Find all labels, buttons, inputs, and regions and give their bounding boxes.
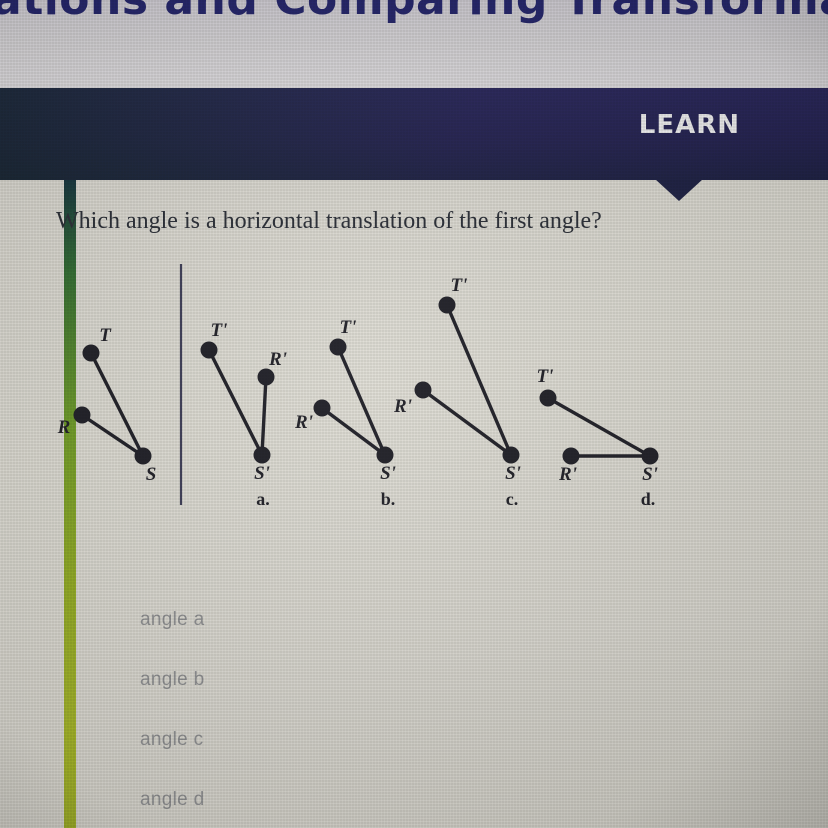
option-d-angle-vertex-rprime-point (563, 448, 580, 465)
option-c-letter-label: c. (506, 489, 519, 509)
original-angle-vertex-r-label: R (57, 417, 71, 438)
option-a-angle-vertex-tprime-point (201, 342, 218, 359)
option-a-angle-segment-rs (262, 377, 266, 455)
original-angle-vertex-s-point (135, 448, 152, 465)
option-a-angle-segment-ts (209, 350, 262, 455)
option-b-angle-vertex-rprime-label: R' (294, 412, 313, 433)
original-angle-vertex-t-label: T (99, 325, 112, 346)
option-d-angle-vertex-tprime-point (540, 390, 557, 407)
option-d-angle-vertex-sprime-point (642, 448, 659, 465)
option-c-angle-vertex-tprime-point (439, 297, 456, 314)
option-c-angle-vertex-sprime-label: S' (505, 463, 521, 484)
angle-figure: TRST'R'S'a.T'R'S'b.T'R'S'c.T'R'S'd. (0, 250, 828, 530)
option-c-angle-vertex-tprime-label: T' (451, 275, 468, 296)
original-angle-vertex-t-point (83, 345, 100, 362)
screenshot-root: ations and Comparing Transforma LEARN Wh… (0, 0, 828, 828)
option-a-angle-vertex-rprime-label: R' (268, 349, 287, 370)
answer-option-d-label: angle d (140, 789, 204, 811)
answer-option-c[interactable]: angle c (140, 710, 204, 770)
nav-banner: LEARN (0, 88, 828, 180)
option-c-angle: T'R'S' (393, 275, 521, 484)
option-a-angle-vertex-rprime-point (258, 369, 275, 386)
answer-option-d[interactable]: angle d (140, 770, 204, 828)
original-angle-vertex-r-point (74, 407, 91, 424)
answer-option-b-label: angle b (140, 669, 204, 691)
option-a-angle-vertex-sprime-point (254, 447, 271, 464)
original-angle: TRS (57, 325, 157, 485)
answer-option-a[interactable]: angle a (140, 590, 204, 650)
option-d-angle-vertex-sprime-label: S' (642, 464, 658, 485)
option-a-letter-label: a. (256, 489, 270, 509)
option-b-angle-vertex-rprime-point (314, 400, 331, 417)
option-d-angle-vertex-rprime-label: R' (558, 464, 577, 485)
nav-active-pointer-icon (655, 179, 703, 201)
answer-option-b[interactable]: angle b (140, 650, 204, 710)
question-text: Which angle is a horizontal translation … (56, 208, 602, 235)
option-b-angle-vertex-tprime-label: T' (340, 317, 357, 338)
option-b-angle: T'R'S' (294, 317, 396, 484)
option-d-angle-segment-ts (548, 398, 650, 456)
option-a-angle-vertex-tprime-label: T' (211, 320, 228, 341)
option-d-angle: T'R'S' (537, 366, 659, 485)
option-b-letter-label: b. (381, 489, 396, 509)
original-angle-vertex-s-label: S (146, 464, 157, 485)
answer-options-list: angle a angle b angle c angle d (140, 590, 204, 828)
page-title: ations and Comparing Transforma (0, 0, 828, 25)
option-a-angle: T'R'S' (201, 320, 287, 484)
option-b-angle-vertex-sprime-point (377, 447, 394, 464)
answer-option-c-label: angle c (140, 729, 203, 751)
option-d-letter-label: d. (641, 489, 656, 509)
option-d-angle-vertex-tprime-label: T' (537, 366, 554, 387)
page-title-strip: ations and Comparing Transforma (0, 0, 828, 88)
option-b-angle-vertex-sprime-label: S' (380, 463, 396, 484)
option-c-angle-vertex-rprime-label: R' (393, 396, 412, 417)
angle-figure-svg: TRST'R'S'a.T'R'S'b.T'R'S'c.T'R'S'd. (0, 250, 828, 530)
option-a-angle-vertex-sprime-label: S' (254, 463, 270, 484)
option-b-angle-vertex-tprime-point (330, 339, 347, 356)
option-c-angle-vertex-sprime-point (503, 447, 520, 464)
option-c-angle-vertex-rprime-point (415, 382, 432, 399)
tab-learn[interactable]: LEARN (639, 110, 740, 140)
answer-option-a-label: angle a (140, 609, 204, 631)
